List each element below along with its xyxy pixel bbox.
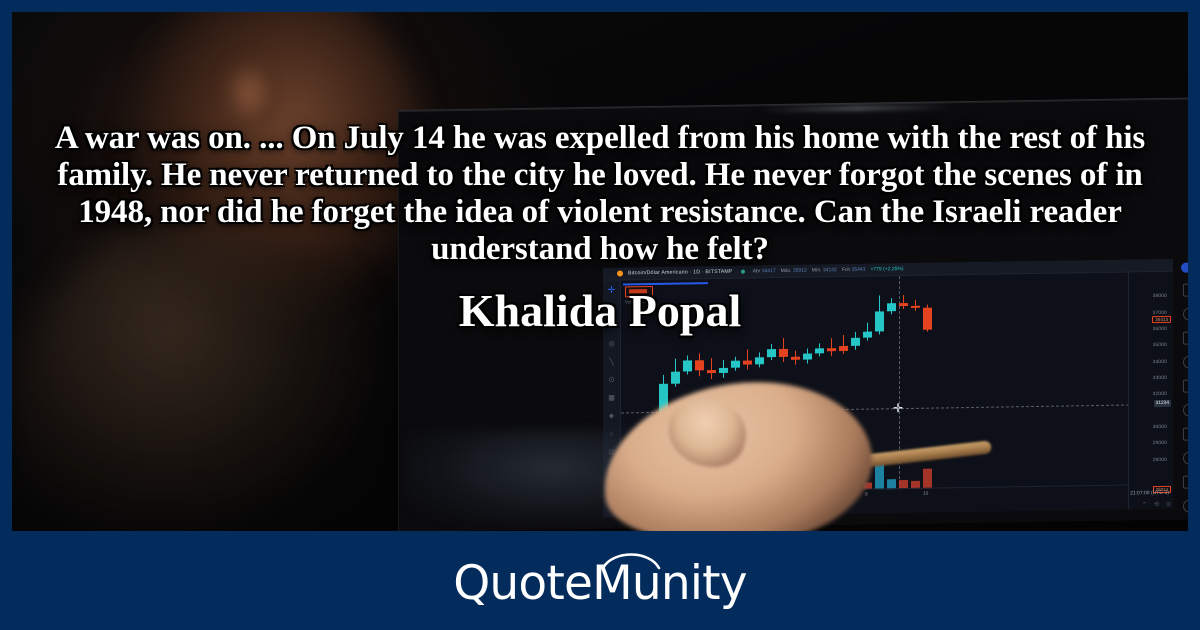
clock-icon[interactable] xyxy=(1183,307,1189,320)
app-side-rail[interactable] xyxy=(1177,256,1188,516)
time-tick-2: 8 xyxy=(865,493,868,498)
price-tick: 37000 xyxy=(1153,310,1167,315)
logo-text: QuoteMunity xyxy=(453,560,747,607)
ticker-low-value: 34132 xyxy=(823,267,837,273)
crosshair-center: ✛ xyxy=(893,402,906,415)
price-tick: 28000 xyxy=(1153,457,1167,462)
ticker-open-value: 34417 xyxy=(762,268,776,274)
shapes-icon[interactable]: ◎ xyxy=(607,340,616,349)
ticker-high-label: Máx. xyxy=(781,268,792,274)
price-tick: 34000 xyxy=(1153,359,1167,364)
price-tick: 32000 xyxy=(1153,392,1167,397)
last-price-label: 35413 xyxy=(1152,316,1171,323)
ticker-high: Máx. 35912 xyxy=(781,268,807,274)
ticker-symbol: Bitcoin/Dólar Americano · 1D · BITSTAMP xyxy=(628,269,733,277)
help-icon[interactable] xyxy=(1183,499,1189,512)
crosshair-price-label: 31234 xyxy=(1154,400,1171,407)
price-tick: 35000 xyxy=(1153,343,1167,348)
bitcoin-icon xyxy=(617,270,623,276)
list-icon[interactable] xyxy=(1183,283,1189,296)
footer-bar: QuoteMunity xyxy=(0,531,1200,630)
watchlist-pill[interactable] xyxy=(1181,262,1189,272)
ticker-high-value: 35912 xyxy=(793,268,807,274)
layers-icon[interactable] xyxy=(1183,331,1189,344)
chart-clock: 21:07:00 (UTC-3) xyxy=(1130,490,1169,497)
price-tick: 33000 xyxy=(1153,376,1167,381)
alerts-icon[interactable] xyxy=(1183,403,1189,416)
time-tick-3: 10 xyxy=(923,492,928,497)
ticker-close-value: 35443 xyxy=(852,267,866,273)
eye-icon[interactable]: ◈ xyxy=(607,412,616,421)
ticker-low-label: Mín. xyxy=(812,267,822,273)
ticker-change: +779 (+2.25%) xyxy=(870,266,903,273)
price-tick: 29000 xyxy=(1153,441,1167,446)
brand-logo[interactable]: QuoteMunity xyxy=(453,554,747,607)
price-tick: 36000 xyxy=(1153,327,1167,332)
logo-arc-icon xyxy=(601,548,661,570)
briefcase-icon[interactable] xyxy=(1183,379,1189,392)
ticker-close-label: Fch xyxy=(842,267,850,273)
magnet-icon[interactable]: ⊙ xyxy=(607,376,616,385)
price-tick: 30000 xyxy=(1153,425,1167,430)
volume-bar xyxy=(875,463,884,489)
volume-bar xyxy=(923,469,932,489)
quote-card: Bitcoin/Dólar Americano · 1D · BITSTAMP … xyxy=(0,0,1200,630)
replay-icon[interactable]: ⟲ xyxy=(1154,501,1159,508)
trend-line-icon[interactable]: ╱ xyxy=(607,304,616,313)
monitor-glare xyxy=(762,104,952,112)
lock-icon[interactable]: ▦ xyxy=(607,394,616,403)
ticker-open-label: Abr xyxy=(753,268,761,274)
help-icon[interactable]: ⊙ xyxy=(1166,501,1171,508)
chat-icon[interactable] xyxy=(1183,427,1189,440)
crosshair-icon[interactable]: ✛ xyxy=(607,286,616,295)
price-axis[interactable]: 3800037000360003500034000330003200030000… xyxy=(1128,272,1173,510)
stream-icon[interactable] xyxy=(1183,475,1189,488)
price-tick: 38000 xyxy=(1153,294,1167,299)
ruler-icon[interactable]: ╲ xyxy=(607,358,616,367)
collapse-icon[interactable]: ⌃ xyxy=(1142,501,1147,508)
ticker-status-dot xyxy=(741,270,745,274)
person-ear xyxy=(224,54,280,132)
cloud-icon[interactable] xyxy=(1183,355,1189,368)
text-icon[interactable]: T xyxy=(607,322,616,331)
ticker-close: Fch 35443 xyxy=(842,267,866,273)
ticker-low: Mín. 34132 xyxy=(812,267,837,273)
ticker-open: Abr 34417 xyxy=(753,268,776,274)
chart-bottom-icons[interactable]: ⌃ ⟲ ⊙ xyxy=(1142,501,1171,508)
ideas-icon[interactable] xyxy=(1183,451,1189,464)
background-photo: Bitcoin/Dólar Americano · 1D · BITSTAMP … xyxy=(12,12,1188,531)
